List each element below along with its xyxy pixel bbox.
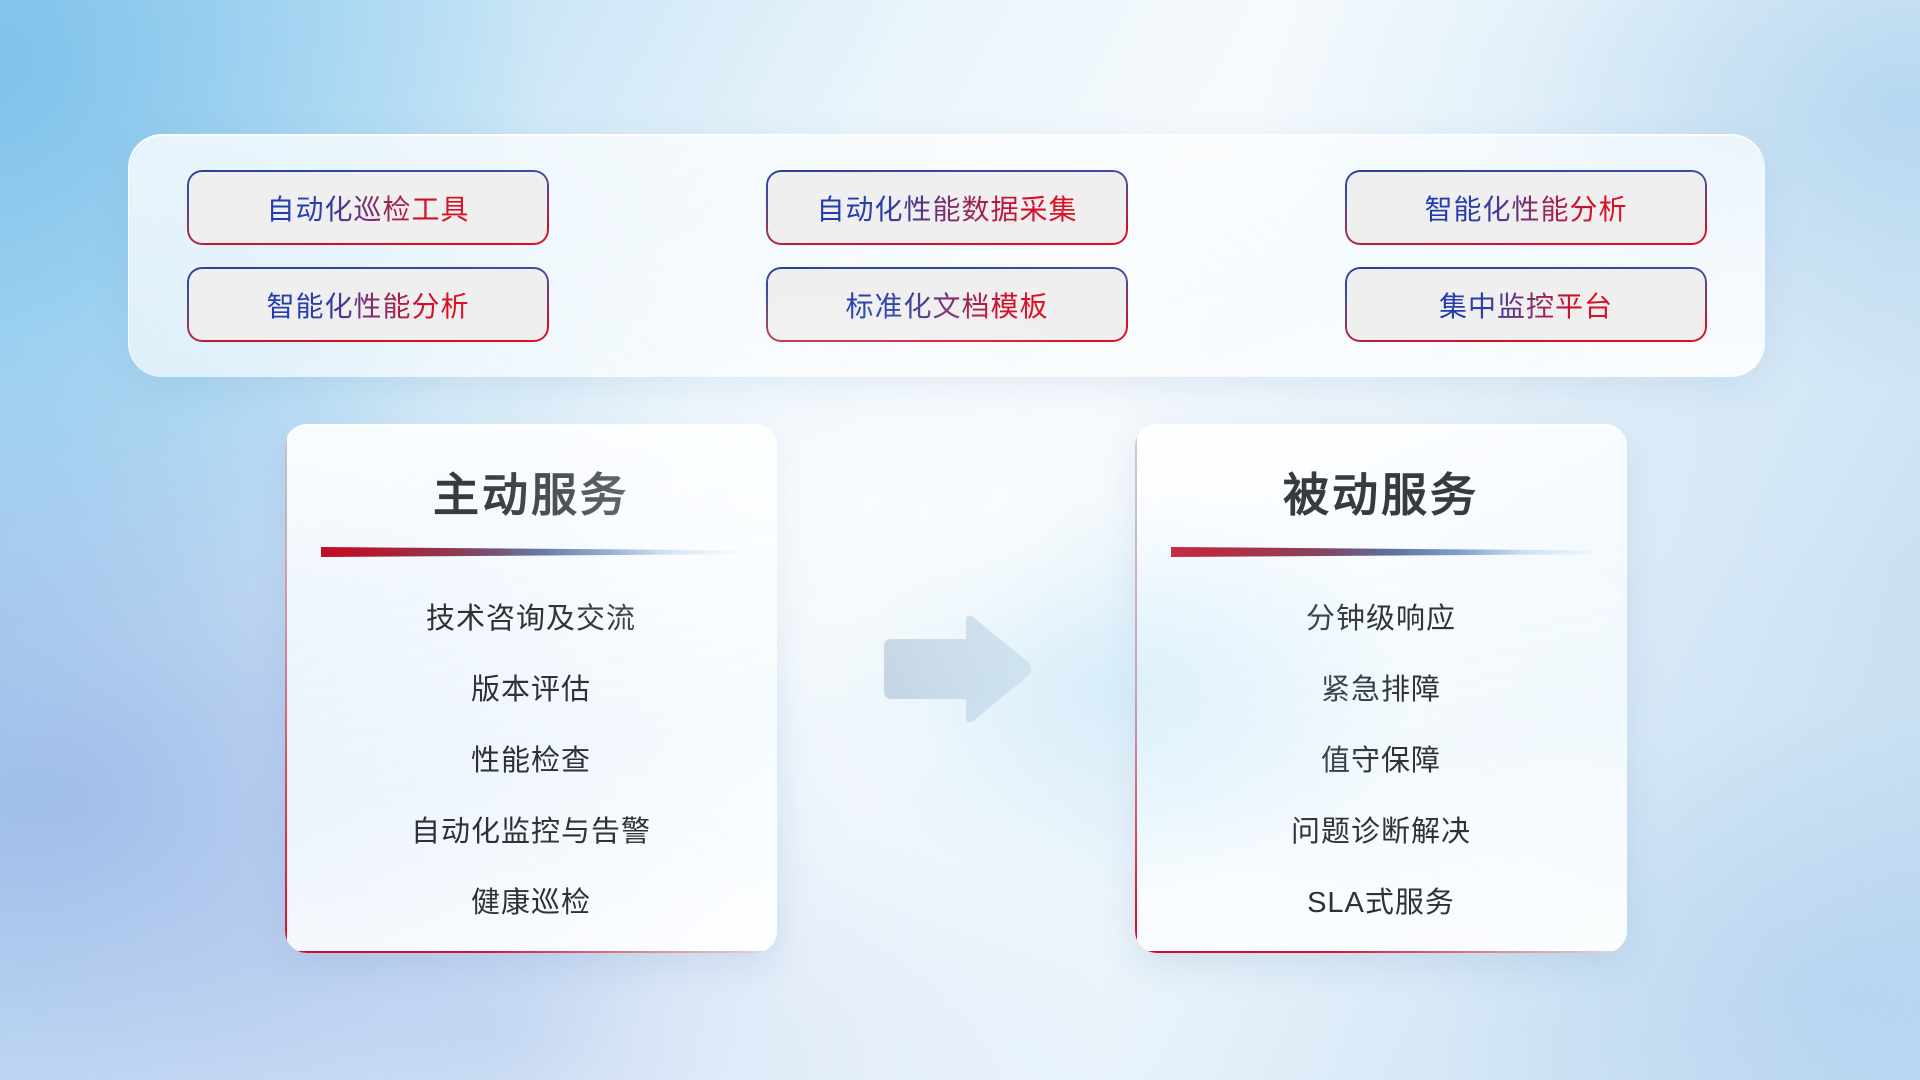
list-item: 健康巡检 bbox=[471, 879, 591, 921]
service-item-list: 分钟级响应 紧急排障 值守保障 问题诊断解决 SLA式服务 bbox=[1135, 595, 1627, 921]
service-card-reactive[interactable]: 被动服务 分钟级响应 紧急排障 值守保障 问题诊断解决 SLA式服务 bbox=[1135, 424, 1627, 953]
list-item: 分钟级响应 bbox=[1306, 595, 1456, 637]
list-item: 技术咨询及交流 bbox=[426, 595, 636, 637]
list-item: 问题诊断解决 bbox=[1291, 808, 1471, 850]
capability-tag-label: 智能化性能分析 bbox=[266, 285, 469, 325]
capability-tag-label: 智能化性能分析 bbox=[1424, 188, 1627, 228]
list-item: 版本评估 bbox=[471, 666, 591, 708]
title-divider bbox=[1171, 547, 1591, 557]
capability-tag-automated-perf-data-collection[interactable]: 自动化性能数据采集 bbox=[768, 172, 1126, 243]
card-title: 主动服务 bbox=[285, 459, 777, 525]
capability-tag-automated-inspection-tool[interactable]: 自动化巡检工具 bbox=[189, 172, 547, 243]
list-item: SLA式服务 bbox=[1307, 879, 1455, 921]
service-card-proactive[interactable]: 主动服务 技术咨询及交流 版本评估 性能检查 自动化监控与告警 健康巡检 bbox=[285, 424, 777, 953]
list-item: 紧急排障 bbox=[1321, 666, 1441, 708]
list-item: 自动化监控与告警 bbox=[411, 808, 651, 850]
list-item: 性能检查 bbox=[471, 737, 591, 779]
capability-tag-label: 自动化性能数据采集 bbox=[816, 188, 1077, 228]
capability-tags-row-1: 自动化巡检工具 自动化性能数据采集 智能化性能分析 bbox=[189, 172, 1705, 243]
capability-tag-intelligent-perf-analysis-2[interactable]: 智能化性能分析 bbox=[189, 269, 547, 340]
capability-tag-label: 标准化文档模板 bbox=[845, 285, 1048, 325]
slide-canvas: 自动化巡检工具 自动化性能数据采集 智能化性能分析 智能化性能分析 标准化文档模… bbox=[0, 0, 1920, 1080]
capability-tag-intelligent-perf-analysis-1[interactable]: 智能化性能分析 bbox=[1347, 172, 1705, 243]
title-divider bbox=[321, 547, 741, 557]
capability-tag-standard-doc-template[interactable]: 标准化文档模板 bbox=[768, 269, 1126, 340]
list-item: 值守保障 bbox=[1321, 737, 1441, 779]
service-item-list: 技术咨询及交流 版本评估 性能检查 自动化监控与告警 健康巡检 bbox=[285, 595, 777, 921]
capability-tags-banner: 自动化巡检工具 自动化性能数据采集 智能化性能分析 智能化性能分析 标准化文档模… bbox=[128, 134, 1765, 377]
card-title: 被动服务 bbox=[1135, 459, 1627, 525]
capability-tag-central-monitoring-platform[interactable]: 集中监控平台 bbox=[1347, 269, 1705, 340]
capability-tags-row-2: 智能化性能分析 标准化文档模板 集中监控平台 bbox=[189, 269, 1705, 340]
arrow-right-icon bbox=[878, 612, 1035, 726]
capability-tag-label: 集中监控平台 bbox=[1439, 285, 1613, 325]
capability-tag-label: 自动化巡检工具 bbox=[266, 188, 469, 228]
